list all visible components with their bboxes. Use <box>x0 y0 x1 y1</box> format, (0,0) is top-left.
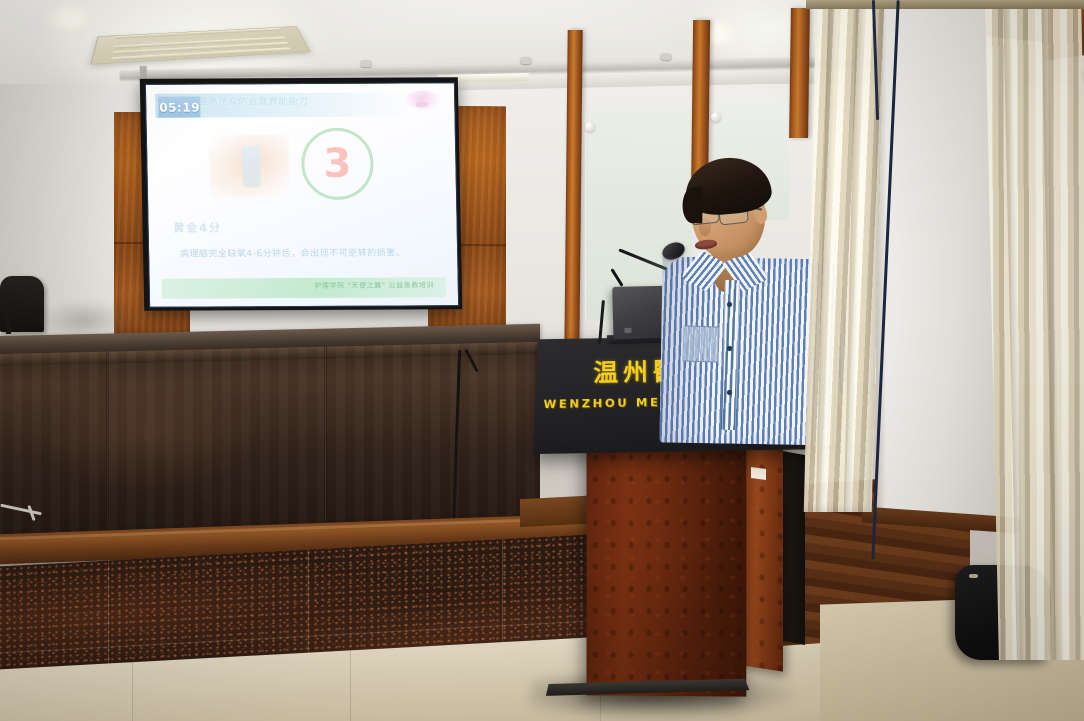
shirt-button <box>727 346 732 351</box>
wall-knob <box>585 122 595 132</box>
podium-sticker <box>751 467 766 480</box>
rail-clip <box>660 53 672 60</box>
slide-surface: 提高民众的自我救助能力 05:19 3 黄金4分 病理脑完全缺氧4-6分钟后，会… <box>145 82 459 308</box>
shirt-button <box>727 302 732 307</box>
slide-number-circle: 3 <box>301 128 374 200</box>
shirt-button <box>727 390 732 395</box>
rail-clip <box>360 60 372 67</box>
curtain-right <box>985 0 1084 660</box>
bag-clip-icon <box>969 574 978 578</box>
wood-pilaster <box>789 8 810 138</box>
chair-shadow <box>38 300 130 334</box>
slide-timer-value: 05:19 <box>159 100 200 114</box>
slide-footer-text: 护理学院 "天使之翼" 公益急救培训 <box>314 280 434 291</box>
slide-big-number: 3 <box>323 144 352 184</box>
curtain-rod <box>806 0 1084 9</box>
slide-footer-bar: 护理学院 "天使之翼" 公益急救培训 <box>162 278 446 299</box>
right-wall <box>884 0 1000 520</box>
curtain-left <box>804 0 885 512</box>
slide-heading: 黄金4分 <box>173 220 222 236</box>
projection-screen: 提高民众的自我救助能力 05:19 3 黄金4分 病理脑完全缺氧4-6分钟后，会… <box>140 77 462 311</box>
slide-logo-icon <box>405 90 439 110</box>
presenter-shirt-pocket <box>682 325 719 362</box>
slide-title: 提高民众的自我救助能力 <box>198 93 414 107</box>
wall-knob <box>711 112 721 122</box>
rail-clip <box>520 57 532 64</box>
slide-hands-image <box>208 135 289 198</box>
podium-body <box>586 423 746 696</box>
slide-timer: 05:19 <box>158 97 200 118</box>
podium-texture <box>586 423 746 696</box>
downlight-icon <box>48 6 94 30</box>
table-sheen <box>38 377 256 495</box>
slide-body-text: 病理脑完全缺氧4-6分钟后，会出现不可逆转的损害。 <box>180 245 433 259</box>
lecture-hall-photo: 提高民众的自我救助能力 05:19 3 黄金4分 病理脑完全缺氧4-6分钟后，会… <box>0 0 1084 721</box>
